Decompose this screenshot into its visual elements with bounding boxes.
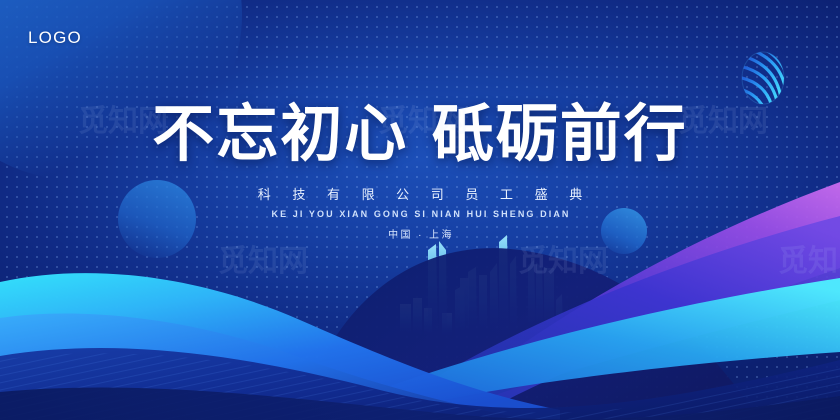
location-text: 中国 · 上海 (0, 226, 840, 241)
page-title: 不忘初心 砥砺前行 (0, 98, 840, 170)
banner-canvas: LOGO 不忘初心 砥砺前行 科 技 有 限 公 司 员 工 盛 典 KE JI… (0, 0, 840, 420)
subtitle-text: 科 技 有 限 公 司 员 工 盛 典 (0, 184, 840, 203)
headline-block: 不忘初心 砥砺前行 科 技 有 限 公 司 员 工 盛 典 KE JI YOU … (0, 98, 840, 241)
pinyin-text: KE JI YOU XIAN GONG SI NIAN HUI SHENG DI… (0, 209, 840, 219)
